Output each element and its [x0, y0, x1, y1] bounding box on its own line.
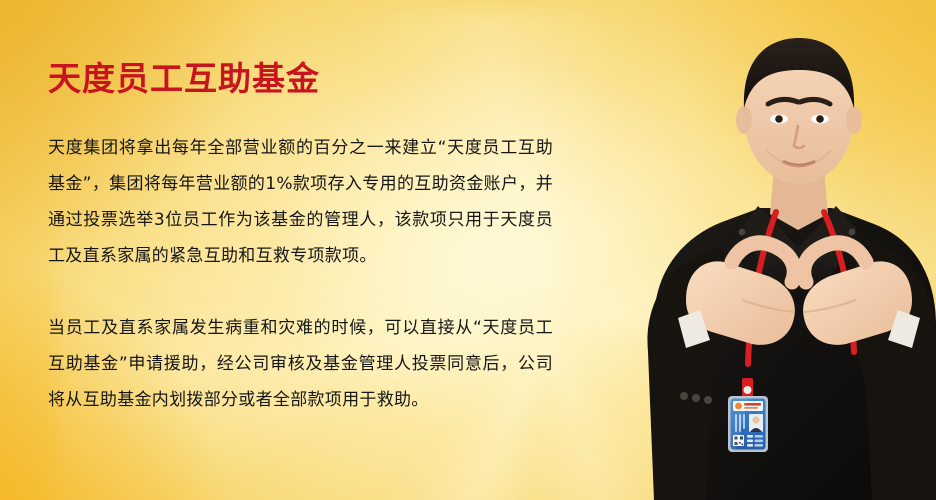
- employee-mutual-aid-fund-banner: 天度员工互助基金 天度集团将拿出每年全部营业额的百分之一来建立“天度员工互助基金…: [0, 0, 936, 500]
- page-title: 天度员工互助基金: [48, 60, 568, 99]
- paragraph-application-process: 当员工及直系家属发生病重和灾难的时候，可以直接从“天度员工互助基金”申请援助，经…: [48, 310, 553, 418]
- banner-copy: 天度员工互助基金 天度集团将拿出每年全部营业额的百分之一来建立“天度员工互助基金…: [48, 60, 568, 418]
- paragraph-fund-establishment: 天度集团将拿出每年全部营业额的百分之一来建立“天度员工互助基金”，集团将每年营业…: [48, 130, 553, 274]
